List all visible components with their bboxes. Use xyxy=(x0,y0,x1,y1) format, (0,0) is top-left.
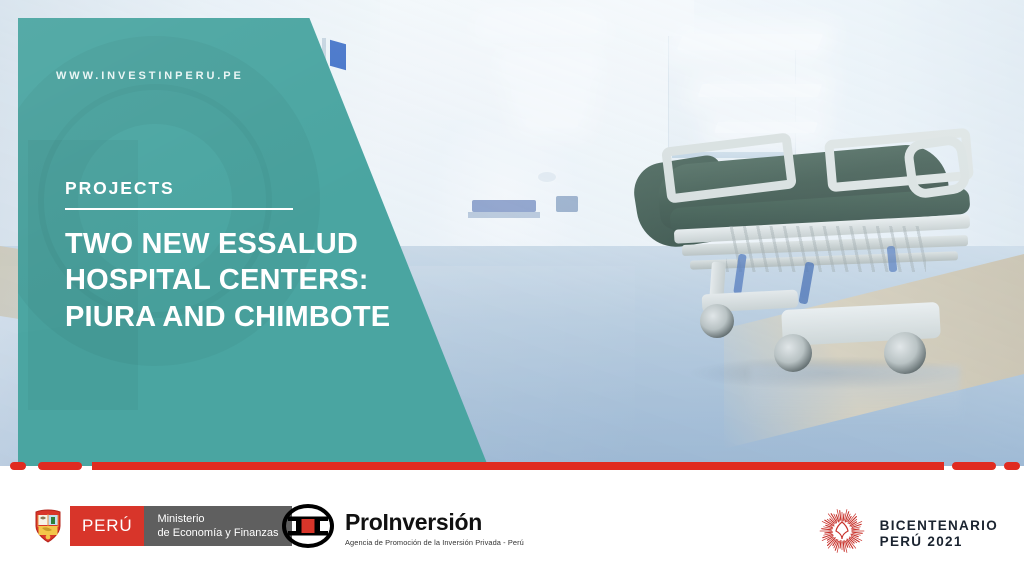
bicentenario-line-2: PERÚ 2021 xyxy=(880,534,998,550)
mef-ministry-line-1: Ministerio xyxy=(157,512,278,526)
bicentenario-text: BICENTENARIO PERÚ 2021 xyxy=(880,518,998,549)
logo-bicentenario: BICENTENARIO PERÚ 2021 xyxy=(817,506,998,561)
page-title-line-1: TWO NEW ESSALUD xyxy=(65,226,452,262)
rule-dash-left xyxy=(38,462,82,470)
page-title-line-3: PIURA AND CHIMBOTE xyxy=(65,299,452,335)
mef-ministry-label: Ministerio de Economía y Finanzas xyxy=(144,506,291,546)
bicentenario-sunburst-icon xyxy=(817,506,867,561)
proinversion-tagline: Agencia de Promoción de la Inversión Pri… xyxy=(345,538,524,547)
bicentenario-line-1: BICENTENARIO xyxy=(880,518,998,534)
proinversion-text: ProInversión Agencia de Promoción de la … xyxy=(345,511,524,547)
proinversion-mark-icon xyxy=(282,502,334,555)
logo-proinversion: ProInversión Agencia de Promoción de la … xyxy=(282,502,524,555)
red-dash-dot-divider xyxy=(0,462,1024,470)
website-url: WWW.INVESTINPERU.PE xyxy=(56,70,244,82)
kicker-divider xyxy=(65,208,293,210)
rule-dot-right xyxy=(1004,462,1020,470)
logo-mef: PERÚ Ministerio de Economía y Finanzas xyxy=(26,506,292,546)
rule-line xyxy=(92,462,944,470)
rule-dash-right xyxy=(952,462,996,470)
page-title: TWO NEW ESSALUD HOSPITAL CENTERS: PIURA … xyxy=(65,226,452,335)
peru-coat-of-arms-icon xyxy=(26,506,70,546)
footer-logo-bar: PERÚ Ministerio de Economía y Finanzas P… xyxy=(0,470,1024,577)
proinversion-name: ProInversión xyxy=(345,511,524,534)
mef-ministry-line-2: de Economía y Finanzas xyxy=(157,526,278,540)
rule-dot-left xyxy=(10,462,26,470)
hero-banner: WWW.INVESTINPERU.PE PROJECTS TWO NEW ESS… xyxy=(0,0,1024,466)
page-title-line-2: HOSPITAL CENTERS: xyxy=(65,262,452,298)
mef-country-label: PERÚ xyxy=(70,506,144,546)
